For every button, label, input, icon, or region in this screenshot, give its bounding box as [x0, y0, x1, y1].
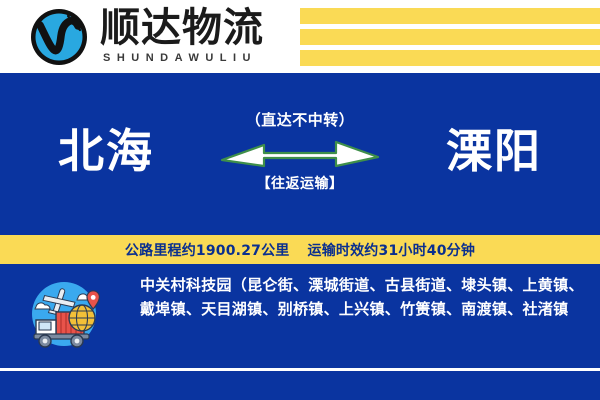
decorative-stripes [300, 0, 600, 73]
coverage-area-text: 中关村科技园（昆仑街、溧城街道、古县街道、埭头镇、上黄镇、戴埠镇、天目湖镇、别桥… [140, 273, 586, 321]
trip-info-bar: 公路里程约1900.27公里 运输时效约31小时40分钟 [0, 235, 600, 264]
destination-city: 溧阳 [446, 123, 542, 179]
bidirectional-arrow-icon [220, 136, 380, 170]
origin-city: 北海 [58, 123, 154, 179]
banner-footer [0, 371, 600, 400]
duration-label: 运输时效约31小时40分钟 [308, 240, 476, 260]
brand-text-group: 顺达物流 SHUNDAWULIU [100, 7, 264, 65]
route-middle-group: （直达不中转） 【往返运输】 [190, 111, 410, 193]
coverage-area-section: 中关村科技园（昆仑街、溧城街道、古县街道、埭头镇、上黄镇、戴埠镇、天目湖镇、别桥… [0, 264, 600, 368]
truck-plane-globe-icon [24, 274, 104, 354]
brand-name-en: SHUNDAWULIU [103, 51, 264, 65]
stripe-3 [300, 50, 600, 66]
roundtrip-note: 【往返运输】 [190, 176, 410, 193]
route-section: 北海 （直达不中转） 【往返运输】 溧阳 [0, 73, 600, 235]
distance-label: 公路里程约1900.27公里 [125, 240, 290, 260]
brand-logo-group: 顺达物流 SHUNDAWULIU [28, 6, 264, 68]
brand-name-cn: 顺达物流 [100, 7, 264, 49]
banner-header: 顺达物流 SHUNDAWULIU [0, 0, 600, 73]
circular-swoosh-logo-icon [28, 6, 90, 68]
logistics-route-banner: 顺达物流 SHUNDAWULIU 北海 （直达不中转） 【往返运输】 溧阳 公路… [0, 0, 600, 400]
stripe-2 [300, 29, 600, 45]
direct-route-note: （直达不中转） [190, 111, 410, 129]
stripe-1 [300, 8, 600, 24]
